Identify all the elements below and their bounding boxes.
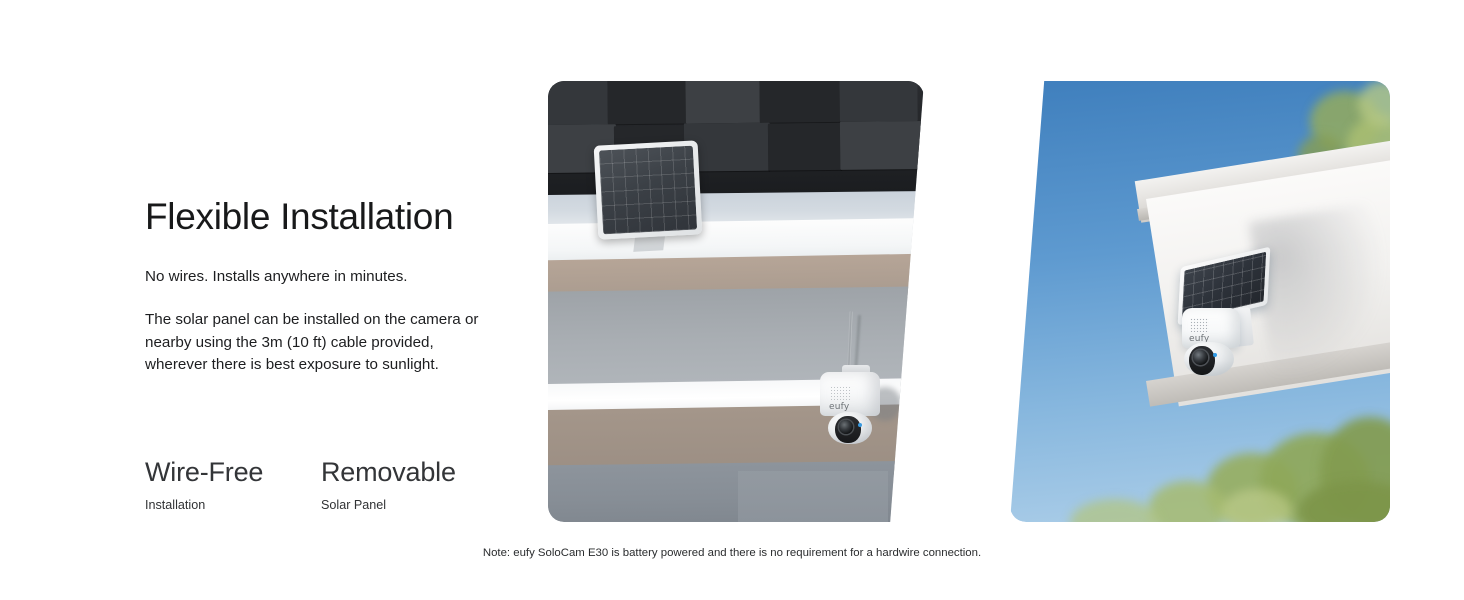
security-camera-soffit: eufy [816, 365, 886, 453]
scene-soffit: eufy [548, 81, 924, 522]
page-title: Flexible Installation [145, 196, 515, 237]
feature-title: Removable [321, 458, 449, 488]
scene-sky: eufy [1010, 81, 1390, 522]
feature-subtitle: Solar Panel [321, 497, 449, 513]
security-camera-wall: eufy [1176, 258, 1272, 376]
camera-lens-icon [1193, 350, 1208, 365]
lede-text: No wires. Installs anywhere in minutes. [145, 266, 515, 288]
image-soffit-installation: eufy [548, 81, 924, 522]
speaker-grille-icon [830, 386, 850, 400]
flexible-installation-section: Flexible Installation No wires. Installs… [0, 0, 1464, 600]
status-led-icon [1213, 353, 1217, 357]
solar-panel-frame [594, 140, 703, 239]
feature-subtitle: Installation [145, 497, 273, 513]
text-column: Flexible Installation No wires. Installs… [145, 196, 515, 376]
image-wall-installation: eufy [1010, 81, 1390, 522]
feature-list: Wire-Free Installation Removable Solar P… [145, 458, 449, 513]
eufy-logo: eufy [829, 402, 849, 412]
feature-removable: Removable Solar Panel [321, 458, 449, 513]
status-led-icon [858, 423, 862, 427]
speaker-grille-icon [1190, 318, 1209, 332]
solar-cells [599, 146, 697, 235]
footnote-text: Note: eufy SoloCam E30 is battery powere… [0, 547, 1464, 559]
solar-panel-roof [594, 140, 703, 239]
camera-lens-icon [839, 420, 853, 434]
wall-panel [738, 471, 888, 522]
foliage-blob [1070, 499, 1160, 522]
feature-wire-free: Wire-Free Installation [145, 458, 273, 513]
feature-title: Wire-Free [145, 458, 273, 488]
image-panel-group: eufy [548, 81, 1390, 522]
body-text: The solar panel can be installed on the … [145, 309, 500, 376]
